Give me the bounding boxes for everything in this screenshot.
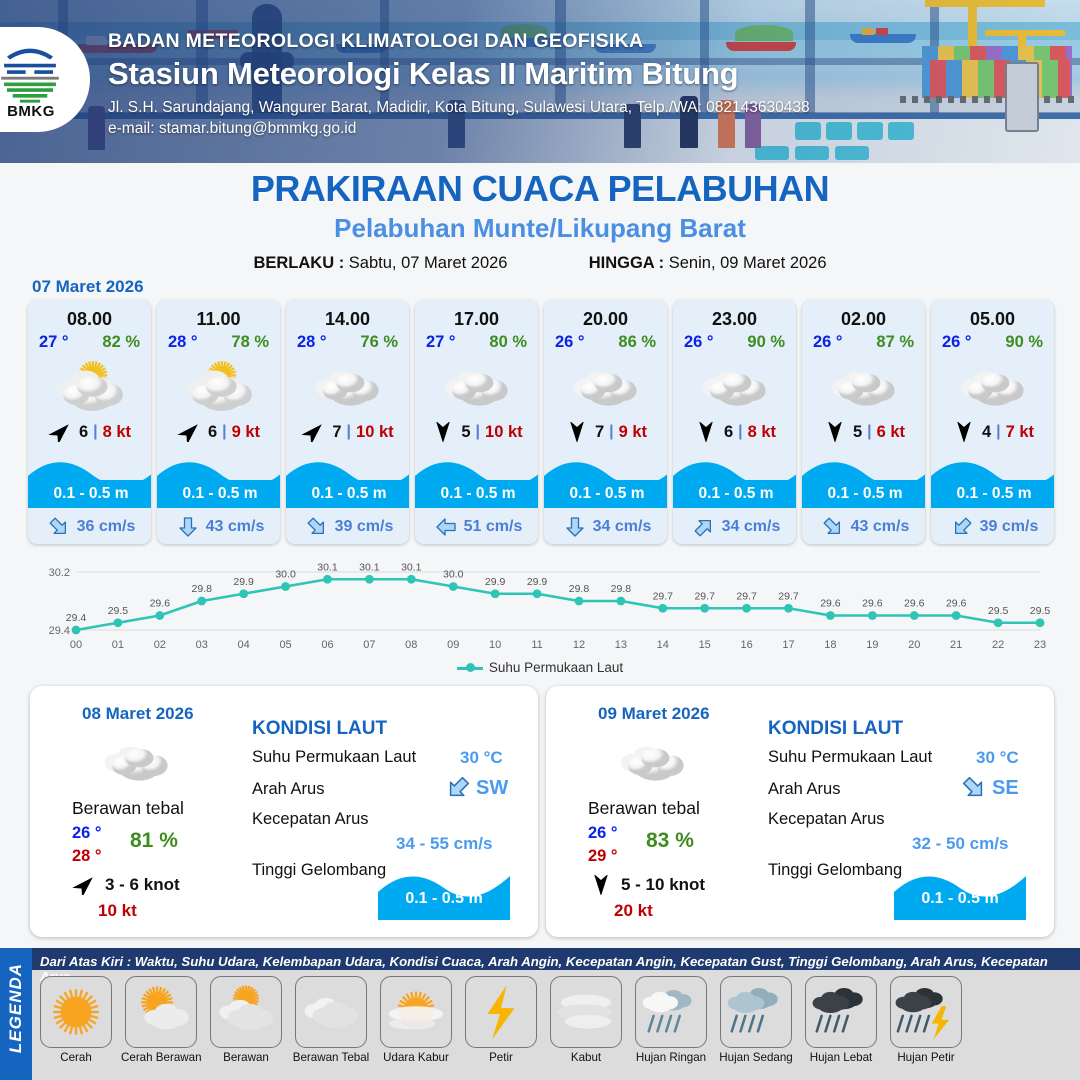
legend-icon-box — [295, 976, 367, 1048]
lightning-icon — [470, 981, 532, 1043]
svg-text:30.1: 30.1 — [317, 561, 338, 573]
svg-text:30.1: 30.1 — [401, 561, 422, 573]
svg-text:29.5: 29.5 — [1030, 605, 1051, 617]
svg-text:30.0: 30.0 — [275, 569, 296, 581]
card-weather-icon — [415, 355, 538, 417]
legend-side-label: LEGENDA — [6, 960, 26, 1056]
card-humidity: 90 % — [1005, 333, 1043, 352]
card-weather-icon — [28, 355, 151, 417]
panel-current-speed-value: 32 - 50 cm/s — [912, 834, 1008, 854]
wind-direction-arrow-E-icon — [430, 422, 456, 442]
svg-text:06: 06 — [321, 639, 333, 651]
svg-text:23: 23 — [1034, 639, 1046, 651]
legend-item-label: Hujan Lebat — [801, 1050, 881, 1065]
page-title: PRAKIRAAN CUACA PELABUHAN — [0, 168, 1080, 210]
page-subtitle: Pelabuhan Munte/Likupang Barat — [0, 213, 1080, 244]
card-humidity: 80 % — [489, 333, 527, 352]
legend-item-label: Hujan Petir — [886, 1050, 966, 1065]
panel-wave-label: Tinggi Gelombang — [252, 861, 386, 880]
svg-text:04: 04 — [238, 639, 250, 651]
card-time: 17.00 — [415, 300, 538, 330]
legend-icon-box — [890, 976, 962, 1048]
card-weather-icon — [931, 355, 1054, 417]
card-separator: | — [609, 423, 613, 441]
forecast-card: 11.00 28 ° 78 % 6 | 9 kt 0.1 - 0.5 m — [157, 300, 280, 544]
svg-text:29.8: 29.8 — [569, 583, 590, 595]
card-wind-row: 4 | 7 kt — [931, 417, 1054, 447]
wind-direction-arrow-NW-icon — [177, 422, 203, 442]
svg-text:29.4: 29.4 — [66, 612, 87, 624]
day-panel-09: 09 Maret 2026 Berawan tebal 26 ° 29 ° 83… — [546, 686, 1054, 937]
card-humidity: 86 % — [618, 333, 656, 352]
panel-wind-range: 3 - 6 knot — [105, 875, 180, 895]
hingga-label: HINGGA : — [589, 254, 664, 272]
card-time: 08.00 — [28, 300, 151, 330]
panel-current-speed-label: Kecepatan Arus — [768, 810, 885, 829]
svg-text:21: 21 — [950, 639, 962, 651]
berlaku-value: Sabtu, 07 Maret 2026 — [349, 254, 508, 272]
card-current-row: 51 cm/s — [415, 510, 538, 544]
panel-sst-label: Suhu Permukaan Laut — [768, 748, 932, 767]
legend-item: Udara Kabur — [376, 976, 456, 1065]
panel-humidity: 83 % — [646, 829, 694, 853]
card-temp-humidity-row: 28 ° 76 % — [286, 330, 409, 352]
current-direction-arrow-SW-icon — [444, 774, 472, 802]
forecast-card: 02.00 26 ° 87 % 5 | 6 kt 0.1 - 0.5 m — [802, 300, 925, 544]
panel-wave-label: Tinggi Gelombang — [768, 861, 902, 880]
card-humidity: 90 % — [747, 333, 785, 352]
svg-text:16: 16 — [740, 639, 752, 651]
card-gust: 8 kt — [103, 423, 131, 442]
legend-icon-box — [805, 976, 877, 1048]
card-time: 02.00 — [802, 300, 925, 330]
card-gust: 9 kt — [232, 423, 260, 442]
card-temperature: 26 ° — [684, 333, 714, 352]
card-current-speed: 51 cm/s — [464, 518, 523, 536]
legend-item: Hujan Sedang — [716, 976, 796, 1065]
panel-current-speed-value: 34 - 55 cm/s — [396, 834, 492, 854]
card-wind-row: 6 | 9 kt — [157, 417, 280, 447]
panel-date: 09 Maret 2026 — [598, 704, 710, 724]
card-gust: 7 kt — [1006, 423, 1034, 442]
legend-icon-box — [40, 976, 112, 1048]
bmkg-emblem-icon — [0, 35, 66, 107]
svg-text:19: 19 — [866, 639, 878, 651]
card-weather-icon — [157, 355, 280, 417]
svg-text:29.6: 29.6 — [946, 598, 967, 610]
card-wind-speed: 5 — [461, 423, 470, 442]
card-temperature: 27 ° — [426, 333, 456, 352]
sun-icon — [45, 981, 107, 1043]
card-wind-row: 5 | 10 kt — [415, 417, 538, 447]
card-current-speed: 39 cm/s — [335, 518, 394, 536]
legend-icon-box — [125, 976, 197, 1048]
card-humidity: 78 % — [231, 333, 269, 352]
legend-side-bar: LEGENDA — [0, 948, 32, 1080]
svg-text:29.6: 29.6 — [904, 598, 925, 610]
station-name: Stasiun Meteorologi Kelas II Maritim Bit… — [108, 56, 810, 92]
day-panel-08: 08 Maret 2026 Berawan tebal 26 ° 28 ° 81… — [30, 686, 538, 937]
card-time: 14.00 — [286, 300, 409, 330]
card-current-speed: 36 cm/s — [77, 518, 136, 536]
svg-text:07: 07 — [363, 639, 375, 651]
forecast-card: 08.00 27 ° 82 % 6 | 8 kt 0.1 - 0.5 m — [28, 300, 151, 544]
card-current-speed: 43 cm/s — [206, 518, 265, 536]
card-temperature: 26 ° — [942, 333, 972, 352]
panel-wave-value: 0.1 - 0.5 m — [378, 890, 510, 908]
card-wind-row: 6 | 8 kt — [673, 417, 796, 447]
panel-wave-value: 0.1 - 0.5 m — [894, 890, 1026, 908]
card-current-row: 39 cm/s — [931, 510, 1054, 544]
agency-name: BADAN METEOROLOGI KLIMATOLOGI DAN GEOFIS… — [108, 30, 810, 53]
card-temperature: 26 ° — [555, 333, 585, 352]
svg-text:30.0: 30.0 — [443, 569, 464, 581]
svg-text:17: 17 — [782, 639, 794, 651]
legend-icon-box — [210, 976, 282, 1048]
legend-item: Petir — [461, 976, 541, 1065]
wind-direction-arrow-NW-icon — [48, 422, 74, 442]
station-address: Jl. S.H. Sarundajang, Wangurer Barat, Ma… — [108, 99, 810, 117]
panel-current-dir-label: Arah Arus — [768, 780, 840, 799]
card-wave-height: 0.1 - 0.5 m — [931, 480, 1054, 508]
sun-cloud-icon — [130, 981, 192, 1043]
legend-item: Hujan Lebat — [801, 976, 881, 1065]
cloud-icon — [434, 359, 520, 413]
card-gust: 6 kt — [877, 423, 905, 442]
card-current-row: 34 cm/s — [673, 510, 796, 544]
legend-item: Cerah — [36, 976, 116, 1065]
legend-item-label: Petir — [461, 1050, 541, 1065]
card-wind-row: 7 | 10 kt — [286, 417, 409, 447]
legend-section: LEGENDA Dari Atas Kiri : Waktu, Suhu Uda… — [0, 948, 1080, 1080]
card-current-row: 43 cm/s — [157, 510, 280, 544]
legend-item-label: Cerah — [36, 1050, 116, 1065]
card-gust: 9 kt — [619, 423, 647, 442]
legend-item: Cerah Berawan — [121, 976, 201, 1065]
svg-text:29.6: 29.6 — [862, 598, 883, 610]
svg-text:29.8: 29.8 — [611, 583, 632, 595]
legend-item: Kabut — [546, 976, 626, 1065]
svg-text:29.4: 29.4 — [49, 625, 70, 637]
wind-direction-arrow-E-icon — [822, 422, 848, 442]
card-temperature: 27 ° — [39, 333, 69, 352]
panel-current-dir-value: SE — [992, 777, 1019, 800]
panel-current-dir-value-row: SW — [444, 774, 508, 802]
legend-item: Berawan Tebal — [291, 976, 371, 1065]
svg-text:15: 15 — [699, 639, 711, 651]
panel-sst-value: 30 °C — [460, 748, 503, 768]
panel-sea-title: KONDISI LAUT — [252, 718, 387, 740]
svg-text:02: 02 — [154, 639, 166, 651]
legend-item: Hujan Ringan — [631, 976, 711, 1065]
card-humidity: 76 % — [360, 333, 398, 352]
panel-wave-graphic: 0.1 - 0.5 m — [378, 868, 510, 920]
current-direction-arrow-NE-icon — [692, 515, 716, 539]
legend-icon-box — [380, 976, 452, 1048]
card-wind-speed: 7 — [332, 423, 341, 442]
panel-wave-graphic: 0.1 - 0.5 m — [894, 868, 1026, 920]
svg-text:29.7: 29.7 — [736, 590, 757, 602]
card-separator: | — [222, 423, 226, 441]
legend-icon-box — [635, 976, 707, 1048]
wind-direction-arrow-E-icon — [564, 422, 590, 442]
validity-range: BERLAKU : Sabtu, 07 Maret 2026 HINGGA : … — [0, 254, 1080, 273]
wind-direction-arrow-E-icon — [588, 875, 614, 895]
legend-icon-box — [720, 976, 792, 1048]
chart-legend-marker — [457, 667, 483, 670]
panel-current-dir-label: Arah Arus — [252, 780, 324, 799]
svg-text:12: 12 — [573, 639, 585, 651]
forecast-card: 17.00 27 ° 80 % 5 | 10 kt 0.1 - 0.5 m — [415, 300, 538, 544]
panel-temp-max: 28 ° — [72, 847, 102, 866]
legend-item-label: Udara Kabur — [376, 1050, 456, 1065]
svg-text:11: 11 — [531, 639, 542, 651]
card-time: 05.00 — [931, 300, 1054, 330]
svg-text:08: 08 — [405, 639, 417, 651]
legend-item-label: Berawan — [206, 1050, 286, 1065]
card-temp-humidity-row: 26 ° 90 % — [931, 330, 1054, 352]
svg-text:29.7: 29.7 — [653, 590, 674, 602]
panel-temp-max: 29 ° — [588, 847, 618, 866]
wind-direction-arrow-E-icon — [693, 422, 719, 442]
card-weather-icon — [544, 355, 667, 417]
panel-temp-min: 26 ° — [588, 824, 618, 843]
svg-text:13: 13 — [615, 639, 627, 651]
svg-text:29.9: 29.9 — [233, 576, 254, 588]
berlaku-label: BERLAKU : — [253, 254, 344, 272]
current-direction-arrow-SE-icon — [821, 515, 845, 539]
bmkg-logo-text: BMKG — [0, 103, 70, 120]
svg-text:30.2: 30.2 — [49, 567, 70, 579]
svg-text:29.6: 29.6 — [150, 598, 171, 610]
sun-cloud-icon — [47, 357, 133, 415]
svg-text:30.1: 30.1 — [359, 561, 380, 573]
forecast-card: 14.00 28 ° 76 % 7 | 10 kt 0.1 - 0.5 m — [286, 300, 409, 544]
svg-text:01: 01 — [112, 639, 124, 651]
rain-moderate-icon — [725, 981, 787, 1043]
card-temp-humidity-row: 26 ° 87 % — [802, 330, 925, 352]
svg-text:29.5: 29.5 — [988, 605, 1009, 617]
card-wind-speed: 6 — [724, 423, 733, 442]
card-current-speed: 43 cm/s — [851, 518, 910, 536]
forecast-card: 05.00 26 ° 90 % 4 | 7 kt 0.1 - 0.5 m — [931, 300, 1054, 544]
rain-heavy-icon — [810, 981, 872, 1043]
svg-text:18: 18 — [824, 639, 836, 651]
card-gust: 10 kt — [356, 423, 394, 442]
page-header: BMKG BADAN METEOROLOGI KLIMATOLOGI DAN G… — [0, 0, 1080, 163]
current-direction-arrow-SE-icon — [47, 515, 71, 539]
card-temp-humidity-row: 26 ° 90 % — [673, 330, 796, 352]
card-wave-height: 0.1 - 0.5 m — [802, 480, 925, 508]
svg-text:29.8: 29.8 — [192, 583, 213, 595]
card-time: 20.00 — [544, 300, 667, 330]
current-direction-arrow-SE-icon — [960, 774, 988, 802]
card-current-row: 34 cm/s — [544, 510, 667, 544]
card-temperature: 26 ° — [813, 333, 843, 352]
cloud-icon — [563, 359, 649, 413]
cloud-icon — [950, 359, 1036, 413]
panel-gust: 10 kt — [98, 901, 137, 921]
panel-current-dir-value-row: SE — [960, 774, 1019, 802]
panel-wind-range: 5 - 10 knot — [621, 875, 705, 895]
panel-condition: Berawan tebal — [588, 798, 700, 819]
card-humidity: 82 % — [102, 333, 140, 352]
card-wind-speed: 5 — [853, 423, 862, 442]
forecast-card: 20.00 26 ° 86 % 7 | 9 kt 0.1 - 0.5 m — [544, 300, 667, 544]
svg-text:29.9: 29.9 — [527, 576, 548, 588]
card-gust: 10 kt — [485, 423, 523, 442]
card-gust: 8 kt — [748, 423, 776, 442]
card-separator: | — [867, 423, 871, 441]
card-wind-speed: 4 — [982, 423, 991, 442]
card-separator: | — [93, 423, 97, 441]
current-direction-arrow-S-icon — [563, 515, 587, 539]
card-separator: | — [996, 423, 1000, 441]
rain-light-icon — [640, 981, 702, 1043]
panel-weather-icon — [92, 734, 182, 788]
svg-text:22: 22 — [992, 639, 1004, 651]
wind-direction-arrow-E-icon — [951, 422, 977, 442]
card-wind-row: 7 | 9 kt — [544, 417, 667, 447]
card-current-row: 43 cm/s — [802, 510, 925, 544]
svg-text:29.9: 29.9 — [485, 576, 506, 588]
card-weather-icon — [673, 355, 796, 417]
card-wave-height: 0.1 - 0.5 m — [28, 480, 151, 508]
current-direction-arrow-S-icon — [176, 515, 200, 539]
panel-temp-min: 26 ° — [72, 824, 102, 843]
panel-wind: 5 - 10 knot — [588, 875, 705, 895]
station-email: e-mail: stamar.bitung@bmmkg.go.id — [108, 120, 810, 138]
card-time: 23.00 — [673, 300, 796, 330]
card-temperature: 28 ° — [168, 333, 198, 352]
svg-text:00: 00 — [70, 639, 82, 651]
card-time: 11.00 — [157, 300, 280, 330]
title-block: PRAKIRAAN CUACA PELABUHAN Pelabuhan Munt… — [0, 168, 1080, 273]
legend-item: Hujan Petir — [886, 976, 966, 1065]
panel-gust: 20 kt — [614, 901, 653, 921]
chart-legend-label: Suhu Permukaan Laut — [489, 660, 623, 675]
card-current-speed: 34 cm/s — [593, 518, 652, 536]
card-wind-row: 5 | 6 kt — [802, 417, 925, 447]
legend-item-label: Hujan Ringan — [631, 1050, 711, 1065]
svg-text:20: 20 — [908, 639, 920, 651]
svg-text:10: 10 — [489, 639, 501, 651]
legend-item-label: Cerah Berawan — [121, 1050, 201, 1065]
panel-weather-icon — [608, 734, 698, 788]
card-separator: | — [738, 423, 742, 441]
panel-sst-label: Suhu Permukaan Laut — [252, 748, 416, 767]
card-temperature: 28 ° — [297, 333, 327, 352]
panel-current-dir-value: SW — [476, 777, 508, 800]
legend-icon-box — [550, 976, 622, 1048]
cloud-icon — [821, 359, 907, 413]
forecast-card-row: 08.00 27 ° 82 % 6 | 8 kt 0.1 - 0.5 m — [28, 300, 1054, 544]
card-temp-humidity-row: 27 ° 82 % — [28, 330, 151, 352]
svg-text:29.7: 29.7 — [778, 590, 799, 602]
sun-cloud-icon — [176, 357, 262, 415]
card-wind-speed: 6 — [79, 423, 88, 442]
card-current-speed: 39 cm/s — [980, 518, 1039, 536]
svg-text:05: 05 — [279, 639, 291, 651]
card-wave-height: 0.1 - 0.5 m — [673, 480, 796, 508]
wind-direction-arrow-NW-icon — [301, 422, 327, 442]
svg-text:29.5: 29.5 — [108, 605, 129, 617]
current-direction-arrow-W-icon — [434, 515, 458, 539]
panel-sst-value: 30 °C — [976, 748, 1019, 768]
svg-text:14: 14 — [657, 639, 669, 651]
sun-clouds-icon — [215, 981, 277, 1043]
clouds-icon — [300, 981, 362, 1043]
card-current-row: 36 cm/s — [28, 510, 151, 544]
haze-icon — [385, 981, 447, 1043]
svg-text:03: 03 — [196, 639, 208, 651]
svg-text:29.6: 29.6 — [820, 598, 841, 610]
fog-icon — [555, 981, 617, 1043]
cloud-icon — [305, 359, 391, 413]
legend-icon-box — [465, 976, 537, 1048]
panel-current-speed-label: Kecepatan Arus — [252, 810, 369, 829]
legend-item-label: Berawan Tebal — [291, 1050, 371, 1065]
card-current-speed: 34 cm/s — [722, 518, 781, 536]
panel-condition: Berawan tebal — [72, 798, 184, 819]
card-temp-humidity-row: 26 ° 86 % — [544, 330, 667, 352]
card-temp-humidity-row: 28 ° 78 % — [157, 330, 280, 352]
svg-text:09: 09 — [447, 639, 459, 651]
forecast-date-label: 07 Maret 2026 — [32, 277, 144, 297]
cloud-icon — [608, 734, 698, 788]
card-wind-speed: 6 — [208, 423, 217, 442]
current-direction-arrow-SE-icon — [305, 515, 329, 539]
svg-text:29.7: 29.7 — [694, 590, 715, 602]
wind-direction-arrow-NW-icon — [72, 875, 98, 895]
card-separator: | — [347, 423, 351, 441]
card-wave-height: 0.1 - 0.5 m — [544, 480, 667, 508]
card-weather-icon — [286, 355, 409, 417]
header-text-block: BADAN METEOROLOGI KLIMATOLOGI DAN GEOFIS… — [108, 30, 810, 138]
rain-thunder-icon — [895, 981, 957, 1043]
card-current-row: 39 cm/s — [286, 510, 409, 544]
cloud-icon — [92, 734, 182, 788]
panel-sea-title: KONDISI LAUT — [768, 718, 903, 740]
legend-item-label: Kabut — [546, 1050, 626, 1065]
card-weather-icon — [802, 355, 925, 417]
card-temp-humidity-row: 27 ° 80 % — [415, 330, 538, 352]
current-direction-arrow-SW-icon — [950, 515, 974, 539]
card-wave-height: 0.1 - 0.5 m — [286, 480, 409, 508]
card-humidity: 87 % — [876, 333, 914, 352]
legend-item-row: Cerah Cerah Berawan Berawan Berawan Teba… — [36, 976, 1076, 1065]
legend-item: Berawan — [206, 976, 286, 1065]
card-separator: | — [476, 423, 480, 441]
card-wind-row: 6 | 8 kt — [28, 417, 151, 447]
card-wave-height: 0.1 - 0.5 m — [157, 480, 280, 508]
panel-date: 08 Maret 2026 — [82, 704, 194, 724]
legend-item-label: Hujan Sedang — [716, 1050, 796, 1065]
hingga-value: Senin, 09 Maret 2026 — [669, 254, 827, 272]
card-wind-speed: 7 — [595, 423, 604, 442]
panel-wind: 3 - 6 knot — [72, 875, 180, 895]
cloud-icon — [692, 359, 778, 413]
card-wave-height: 0.1 - 0.5 m — [415, 480, 538, 508]
chart-legend: Suhu Permukaan Laut — [0, 660, 1080, 675]
panel-humidity: 81 % — [130, 829, 178, 853]
forecast-card: 23.00 26 ° 90 % 6 | 8 kt 0.1 - 0.5 m — [673, 300, 796, 544]
